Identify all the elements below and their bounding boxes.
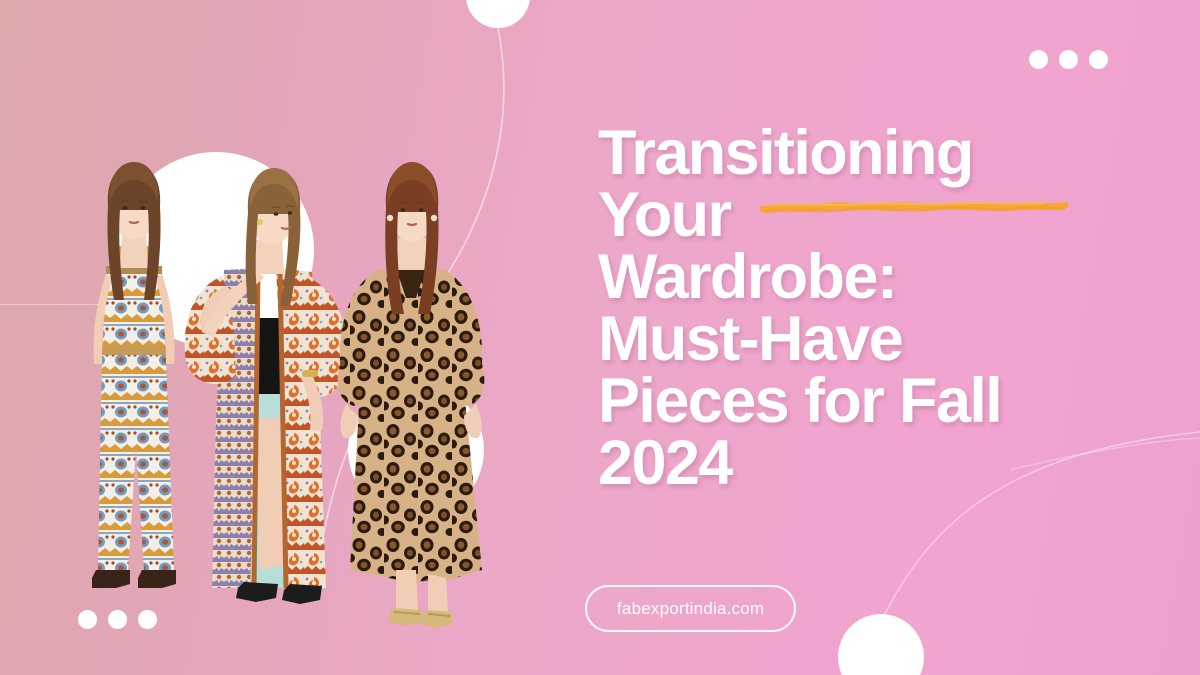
- dot-icon: [1059, 50, 1078, 69]
- page-title: Transitioning Your Wardrobe: Must-Have P…: [598, 122, 1118, 494]
- dot-icon: [1029, 50, 1048, 69]
- model-group: [44, 118, 544, 628]
- website-url-badge[interactable]: fabexportindia.com: [585, 585, 796, 632]
- model-2-figure: [185, 168, 347, 604]
- decor-circle-bottom: [838, 614, 924, 675]
- model-1-figure: [92, 162, 176, 588]
- decor-circle-top: [466, 0, 530, 28]
- fashion-banner: Transitioning Your Wardrobe: Must-Have P…: [0, 0, 1200, 675]
- dot-icon: [1089, 50, 1108, 69]
- decor-dots-top-right: [1029, 50, 1108, 69]
- model-3-figure: [338, 162, 485, 628]
- headline-block: Transitioning Your Wardrobe: Must-Have P…: [598, 122, 1118, 494]
